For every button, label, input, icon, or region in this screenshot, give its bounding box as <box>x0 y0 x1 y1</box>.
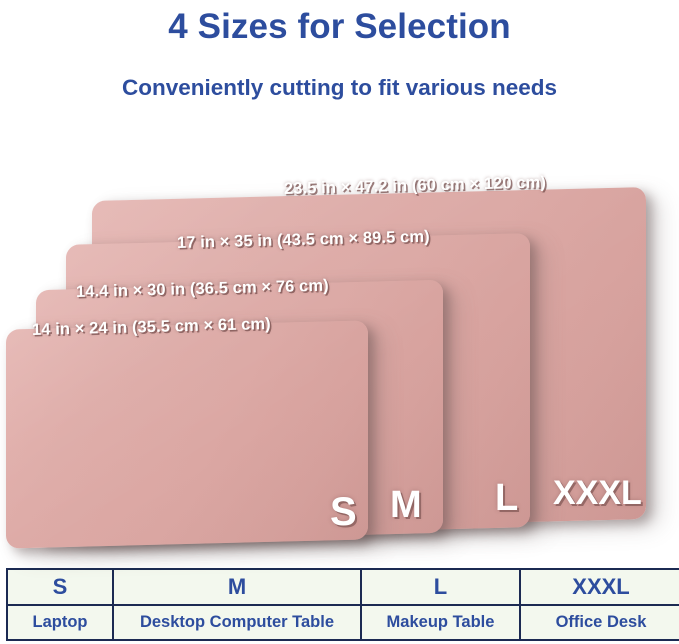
size-reference-table: S M L XXXL Laptop Desktop Computer Table… <box>6 568 679 641</box>
mat-s <box>6 320 368 548</box>
table-cell-code-m: M <box>113 569 361 605</box>
table-cell-code-s: S <box>7 569 113 605</box>
table-cell-use-l: Makeup Table <box>361 605 520 640</box>
table-row-codes: S M L XXXL <box>7 569 679 605</box>
size-letter-xxxl: XXXL <box>553 476 642 510</box>
size-letter-s: S <box>330 492 357 532</box>
table-cell-use-m: Desktop Computer Table <box>113 605 361 640</box>
table-cell-use-s: Laptop <box>7 605 113 640</box>
table-cell-code-xxxl: XXXL <box>520 569 679 605</box>
table-row-uses: Laptop Desktop Computer Table Makeup Tab… <box>7 605 679 640</box>
table-cell-code-l: L <box>361 569 520 605</box>
mat-size-stack: 23.5 in × 47.2 in (60 cm × 120 cm) 17 in… <box>0 0 679 565</box>
table-cell-use-xxxl: Office Desk <box>520 605 679 640</box>
size-letter-m: M <box>390 486 422 524</box>
size-letter-l: L <box>495 479 518 517</box>
